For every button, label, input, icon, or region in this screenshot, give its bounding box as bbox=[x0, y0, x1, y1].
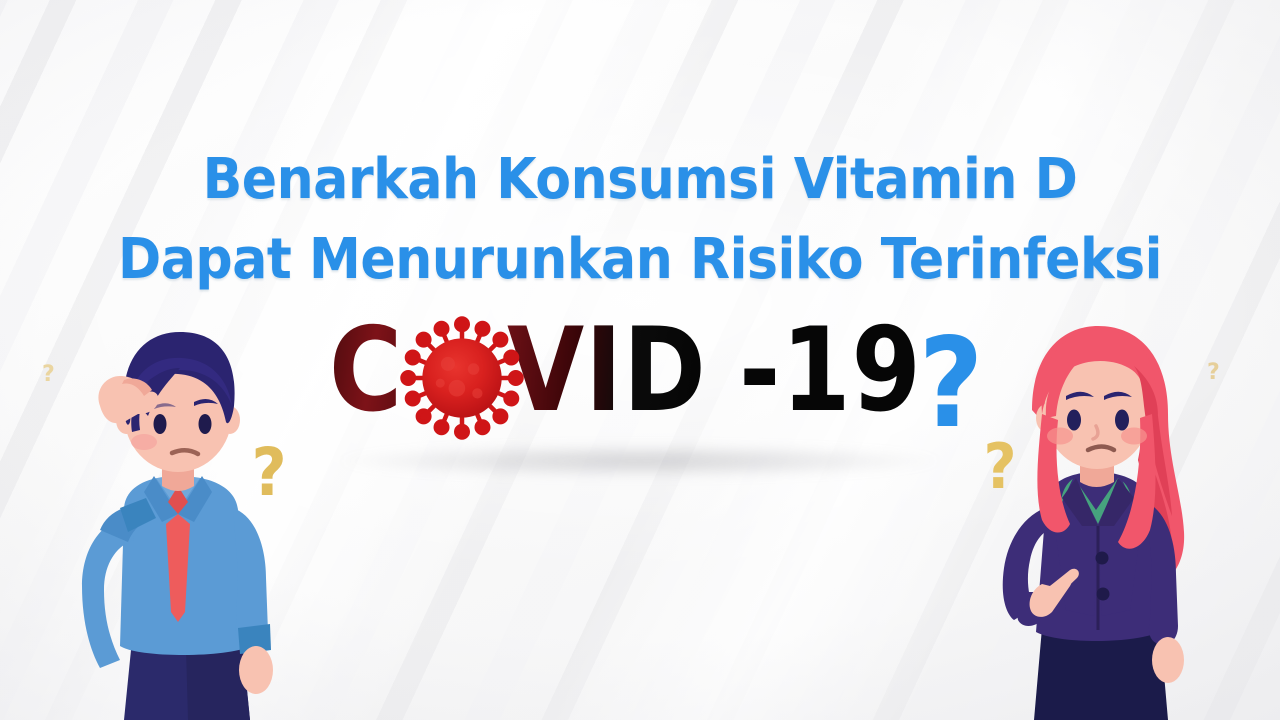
question-mark-yellow-left: ? bbox=[252, 440, 287, 506]
coronavirus-icon bbox=[398, 314, 526, 442]
question-mark-tiny-right: ? bbox=[1207, 362, 1220, 384]
question-mark-yellow-right: ? bbox=[983, 436, 1016, 498]
question-mark-tiny-left: ? bbox=[42, 364, 55, 386]
covid-letter-c: C bbox=[329, 312, 403, 430]
thumbnail-canvas: Benarkah Konsumsi Vitamin D Dapat Menuru… bbox=[0, 0, 1280, 720]
covid-text-row: C VID -19 bbox=[0, 312, 1280, 452]
covid-19-lockup: C VID -19 bbox=[0, 312, 1280, 472]
question-mark-blue-large: ? bbox=[919, 322, 984, 446]
covid-dash-number: -19 bbox=[739, 312, 922, 430]
covid-letters-vid: VID bbox=[507, 312, 707, 430]
